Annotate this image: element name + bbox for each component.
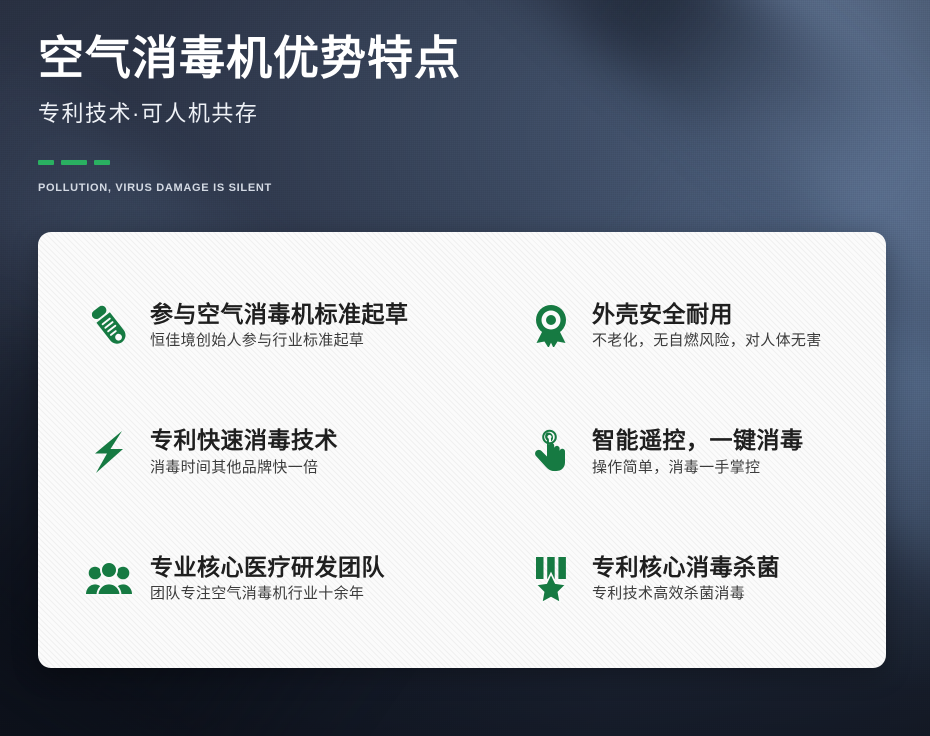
features-card: 参与空气消毒机标准起草 恒佳境创始人参与行业标准起草 外壳安全耐用 [38,232,886,668]
page-subtitle: 专利技术·可人机共存 [38,96,738,128]
feature-text: 专利核心消毒杀菌 专利技术高效杀菌消毒 [592,554,780,603]
feature-description: 恒佳境创始人参与行业标准起草 [150,332,409,350]
feature-text: 专利快速消毒技术 消毒时间其他品牌快一倍 [150,427,338,476]
lightning-bolt-icon [86,427,132,477]
feature-item: 专业核心医疗研发团队 团队专注空气消毒机行业十余年 [38,515,508,642]
feature-description: 专利技术高效杀菌消毒 [592,585,780,603]
signature-pen-icon [86,300,132,350]
accent-dashes [38,160,738,165]
feature-description: 操作简单，消毒一手掌控 [592,459,804,477]
features-grid: 参与空气消毒机标准起草 恒佳境创始人参与行业标准起草 外壳安全耐用 [38,232,886,668]
award-rosette-icon [528,300,574,350]
feature-text: 智能遥控，一键消毒 操作简单，消毒一手掌控 [592,427,804,476]
feature-title: 参与空气消毒机标准起草 [150,301,409,327]
star-medal-icon [528,554,574,604]
team-people-icon [86,554,132,604]
feature-item: 专利快速消毒技术 消毒时间其他品牌快一倍 [38,389,508,516]
feature-item: 智能遥控，一键消毒 操作简单，消毒一手掌控 [508,389,886,516]
accent-dash [38,160,54,165]
page-title: 空气消毒机优势特点 [38,34,738,84]
feature-text: 外壳安全耐用 不老化，无自燃风险，对人体无害 [592,301,822,350]
feature-description: 团队专注空气消毒机行业十余年 [150,585,385,603]
feature-description: 消毒时间其他品牌快一倍 [150,459,338,477]
promo-page: 空气消毒机优势特点 专利技术·可人机共存 POLLUTION, VIRUS DA… [0,0,930,736]
feature-description: 不老化，无自燃风险，对人体无害 [592,332,822,350]
tap-hand-icon [528,427,574,477]
feature-text: 参与空气消毒机标准起草 恒佳境创始人参与行业标准起草 [150,301,409,350]
feature-title: 专业核心医疗研发团队 [150,554,385,580]
feature-title: 外壳安全耐用 [592,301,822,327]
feature-text: 专业核心医疗研发团队 团队专注空气消毒机行业十余年 [150,554,385,603]
page-header: 空气消毒机优势特点 专利技术·可人机共存 POLLUTION, VIRUS DA… [38,0,738,194]
feature-item: 参与空气消毒机标准起草 恒佳境创始人参与行业标准起草 [38,262,508,389]
feature-item: 外壳安全耐用 不老化，无自燃风险，对人体无害 [508,262,886,389]
page-eyebrow: POLLUTION, VIRUS DAMAGE IS SILENT [38,182,738,194]
feature-item: 专利核心消毒杀菌 专利技术高效杀菌消毒 [508,515,886,642]
feature-title: 专利快速消毒技术 [150,427,338,453]
accent-dash [61,160,87,165]
feature-title: 智能遥控，一键消毒 [592,427,804,453]
accent-dash [94,160,110,165]
feature-title: 专利核心消毒杀菌 [592,554,780,580]
